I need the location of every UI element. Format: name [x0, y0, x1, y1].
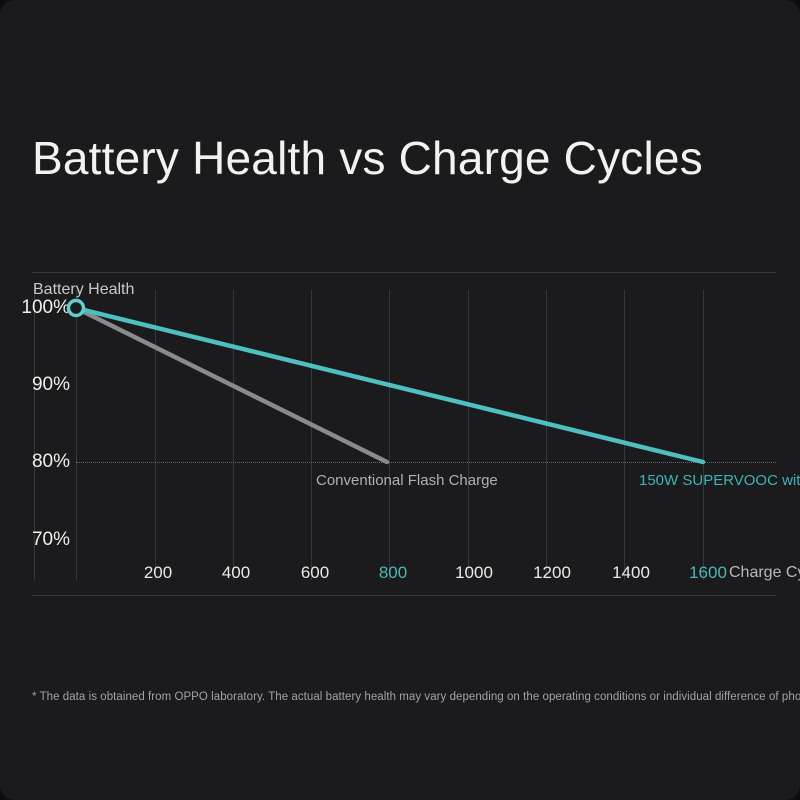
plot-area: Battery Health 100% 90% 80% 70% 200 400 … — [0, 0, 800, 800]
series-label-conventional-flash-charge: Conventional Flash Charge — [316, 472, 498, 489]
line-conventional-flash-charge — [76, 308, 387, 462]
slide-canvas: Battery Health vs Charge Cycles Battery … — [0, 0, 800, 800]
series-label-150w-supervooc-bhe: 150W SUPERVOOC with BHE — [639, 472, 800, 489]
chart-container: Battery Health 100% 90% 80% 70% 200 400 … — [0, 0, 800, 800]
footnote-disclaimer: * The data is obtained from OPPO laborat… — [32, 691, 800, 703]
series-lines — [0, 0, 800, 800]
line-150w-supervooc-bhe — [76, 308, 703, 462]
start-point-marker-icon — [69, 301, 84, 316]
